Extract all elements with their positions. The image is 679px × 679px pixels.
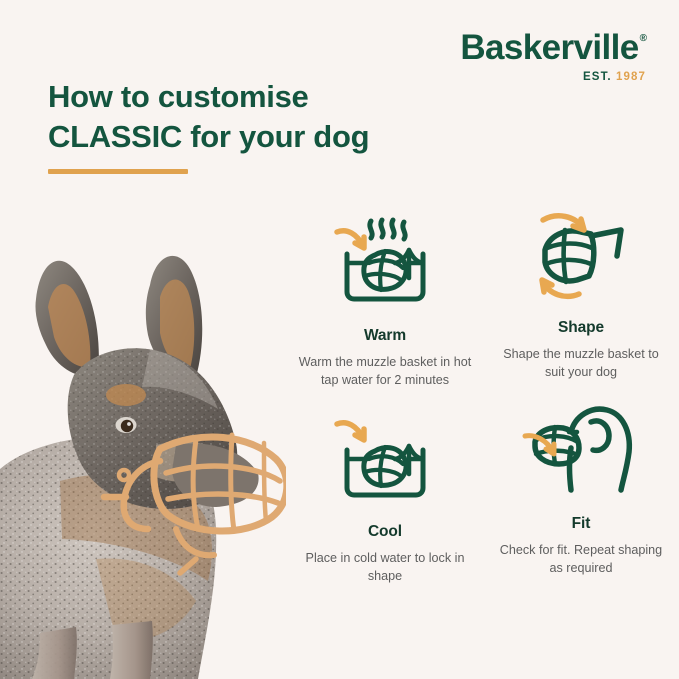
step-description: Place in cold water to lock in shape bbox=[297, 549, 473, 586]
brand-wordmark: Baskerville bbox=[460, 30, 638, 65]
tub-cold-water-icon bbox=[330, 402, 440, 506]
brand-logo: Baskerville® EST. 1987 bbox=[460, 30, 646, 84]
muzzle-shaping-arrows-icon bbox=[526, 206, 636, 302]
arrow-down-gold-icon bbox=[337, 231, 364, 248]
step-description: Shape the muzzle basket to suit your dog bbox=[493, 345, 669, 382]
page-title-line-2: CLASSIC for your dog bbox=[48, 117, 448, 157]
step-cool: Cool Place in cold water to lock in shap… bbox=[287, 402, 483, 598]
tub-with-steam-icon bbox=[330, 206, 440, 310]
registered-trademark-icon: ® bbox=[640, 33, 647, 44]
step-description: Check for fit. Repeat shaping as require… bbox=[493, 541, 669, 578]
step-description: Warm the muzzle basket in hot tap water … bbox=[297, 353, 473, 390]
title-underline-rule bbox=[48, 169, 188, 174]
step-title: Fit bbox=[572, 515, 591, 533]
brand-wordmark-row: Baskerville® bbox=[460, 30, 646, 65]
brand-established-label: EST. bbox=[583, 71, 612, 83]
page-title: How to customise CLASSIC for your dog bbox=[48, 77, 448, 158]
step-title: Shape bbox=[558, 319, 604, 337]
dog-head-muzzle-fit-icon bbox=[526, 402, 636, 498]
step-title: Cool bbox=[368, 523, 402, 541]
steps-grid: Warm Warm the muzzle basket in hot tap w… bbox=[287, 206, 679, 598]
brand-established: EST. 1987 bbox=[460, 72, 646, 84]
step-title: Warm bbox=[364, 327, 406, 345]
step-shape: Shape Shape the muzzle basket to suit yo… bbox=[483, 206, 679, 402]
infographic-page: Baskerville® EST. 1987 How to customise … bbox=[0, 0, 679, 679]
page-title-line-1: How to customise bbox=[48, 77, 448, 117]
arrow-down-gold-icon bbox=[337, 423, 364, 440]
step-warm: Warm Warm the muzzle basket in hot tap w… bbox=[287, 206, 483, 402]
dog-photo bbox=[0, 229, 286, 679]
brand-established-year: 1987 bbox=[616, 71, 646, 83]
step-fit: Fit Check for fit. Repeat shaping as req… bbox=[483, 402, 679, 598]
